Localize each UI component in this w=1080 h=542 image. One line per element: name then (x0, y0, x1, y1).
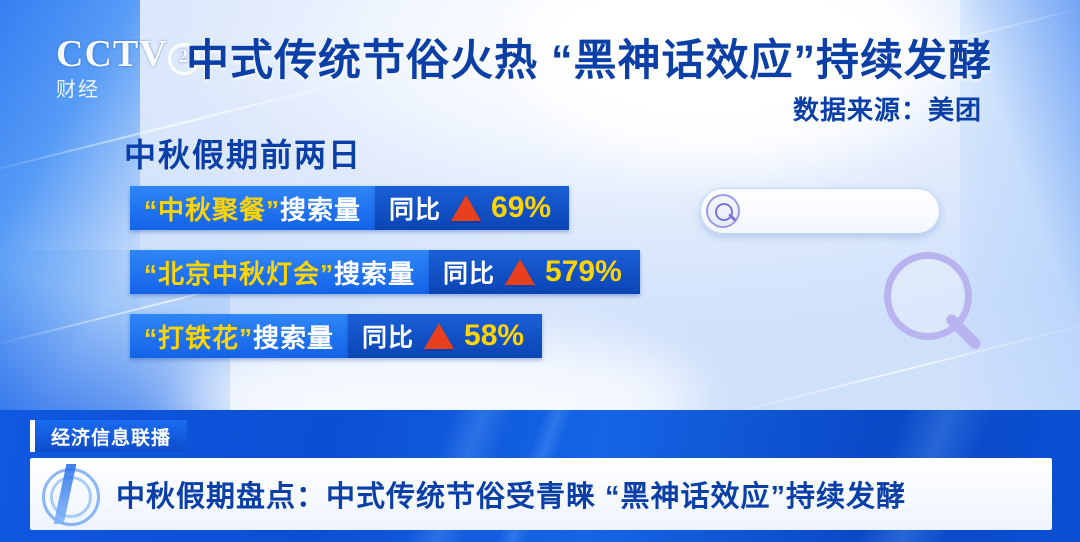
data-source-label: 数据来源：美团 (793, 90, 982, 127)
cctv-logo-text: CCTV2 (56, 34, 206, 75)
stat-value-block: 同比 579% (429, 250, 640, 294)
stat-compare-label: 同比 (443, 254, 495, 290)
stat-row: “打铁花”搜索量 同比 58% (130, 314, 640, 358)
ticker-headline: 中秋假期盘点：中式传统节俗受青睐 “黑神话效应”持续发酵 (116, 473, 906, 515)
up-triangle-icon (424, 323, 454, 349)
search-icon (706, 194, 740, 228)
stat-row: “中秋聚餐”搜索量 同比 69% (130, 186, 640, 230)
stat-keyword: “北京中秋灯会” (144, 254, 334, 291)
stat-keyword-tag: “北京中秋灯会”搜索量 (130, 250, 429, 294)
ticker-emblem-icon (30, 458, 116, 530)
stat-keyword-tag: “中秋聚餐”搜索量 (130, 186, 375, 230)
news-ticker: 中秋假期盘点：中式传统节俗受青睐 “黑神话效应”持续发酵 (30, 458, 1052, 530)
stat-rows: “中秋聚餐”搜索量 同比 69% “北京中秋灯会”搜索量 同比 579% (130, 186, 640, 378)
stat-metric: 搜索量 (253, 318, 334, 355)
search-bar-graphic (700, 188, 940, 234)
stat-keyword: “打铁花” (144, 318, 253, 355)
section-subtitle: 中秋假期前两日 (124, 130, 362, 176)
cctv-logo-letters: CCTV (56, 33, 168, 75)
up-triangle-icon (505, 259, 535, 285)
stat-value: 579% (545, 255, 622, 289)
stat-compare-label: 同比 (389, 190, 441, 226)
headline: 中式传统节俗火热 “黑神话效应”持续发酵 (186, 26, 1056, 88)
infographic-panel: CCTV2 财经 中式传统节俗火热 “黑神话效应”持续发酵 数据来源：美团 中秋… (0, 0, 1080, 410)
stat-row: “北京中秋灯会”搜索量 同比 579% (130, 250, 640, 294)
stat-value-block: 同比 58% (348, 314, 542, 358)
stat-value: 69% (491, 191, 551, 225)
stat-keyword: “中秋聚餐” (144, 190, 280, 227)
cctv-logo: CCTV2 财经 (56, 34, 206, 96)
stat-metric: 搜索量 (280, 190, 361, 227)
up-triangle-icon (451, 195, 481, 221)
cctv-logo-subtitle: 财经 (56, 73, 206, 102)
stat-value: 58% (464, 319, 524, 353)
stat-value-block: 同比 69% (375, 186, 569, 230)
broadcast-screen: CCTV2 财经 中式传统节俗火热 “黑神话效应”持续发酵 数据来源：美团 中秋… (0, 0, 1080, 542)
program-name-badge: 经济信息联播 (30, 420, 187, 452)
stat-keyword-tag: “打铁花”搜索量 (130, 314, 348, 358)
stat-metric: 搜索量 (334, 254, 415, 291)
stat-compare-label: 同比 (362, 318, 414, 354)
